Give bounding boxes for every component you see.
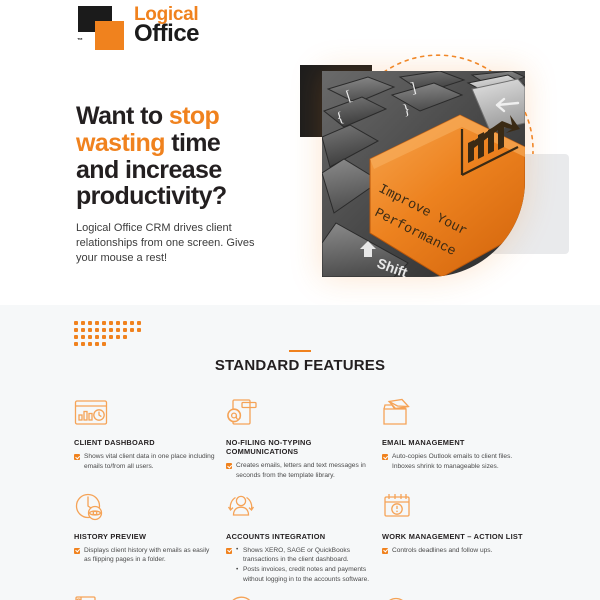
headline-seg-1: Want to (76, 102, 169, 130)
feature-body: Auto-copies Outlook emails to client fil… (382, 452, 526, 472)
feature-text: Shows vital client data in one place inc… (84, 452, 218, 472)
gear-settings-icon (226, 596, 374, 600)
logo-orange-square (95, 21, 124, 50)
feature-card-clock-square (382, 596, 534, 600)
feature-body: Controls deadlines and follow ups. (382, 546, 526, 556)
feature-title: ACCOUNTS INTEGRATION (226, 532, 374, 541)
hero-keyboard-image: [ { ] } " (322, 71, 525, 277)
folder-envelope-icon (382, 398, 526, 432)
check-bullet-icon (74, 548, 80, 554)
calendar-alert-icon (382, 492, 526, 526)
feature-title: HISTORY PREVIEW (74, 532, 218, 541)
feature-text: Auto-copies Outlook emails to client fil… (392, 452, 526, 472)
list-item: Posts invoices, credit notes and payment… (236, 565, 374, 585)
feature-text: Controls deadlines and follow ups. (392, 546, 492, 556)
person-sync-icon (226, 492, 374, 526)
feature-card-work-management: WORK MANAGEMENT – ACTION LIST Controls d… (382, 492, 534, 585)
dashboard-chart-clock-icon (74, 398, 218, 432)
hero-subcopy: Logical Office CRM drives client relatio… (76, 221, 261, 266)
feature-card-history-preview: HISTORY PREVIEW Displays client history … (74, 492, 226, 585)
features-grid: CLIENT DASHBOARD Shows vital client data… (74, 398, 534, 600)
feature-card-document-briefcase (74, 596, 226, 600)
feature-text: Shows XERO, SAGE or QuickBooks transacti… (236, 546, 374, 585)
document-at-sign-icon (226, 398, 374, 432)
hero-artwork: [ { ] } " (296, 32, 566, 294)
logo-mark-icon: ™ (74, 4, 132, 52)
feature-title: EMAIL MANAGEMENT (382, 438, 526, 447)
feature-card-client-dashboard: CLIENT DASHBOARD Shows vital client data… (74, 398, 226, 481)
clock-eye-icon (74, 492, 218, 526)
feature-body: Shows vital client data in one place inc… (74, 452, 218, 472)
feature-card-no-filing-communications: NO-FILING NO-TYPING COMMUNICATIONS Creat… (226, 398, 382, 481)
feature-bullet-list: Shows XERO, SAGE or QuickBooks transacti… (236, 546, 374, 585)
hero-copy: Want to stop wasting time and increase p… (76, 103, 261, 266)
feature-title: NO-FILING NO-TYPING COMMUNICATIONS (226, 438, 374, 456)
hero-section: ™ Logical Office Want to stop wasting ti… (0, 0, 600, 305)
headline-seg-4: wasting (76, 129, 165, 157)
check-bullet-icon (382, 548, 388, 554)
headline-seg-2: stop (169, 102, 219, 130)
check-bullet-icon (226, 548, 232, 554)
page-title: Want to stop wasting time and increase p… (76, 103, 261, 210)
feature-text: Displays client history with emails as e… (84, 546, 218, 566)
feature-body: Displays client history with emails as e… (74, 546, 218, 566)
check-bullet-icon (74, 454, 80, 460)
clock-square-icon (382, 596, 526, 600)
check-bullet-icon (226, 463, 232, 469)
feature-title: CLIENT DASHBOARD (74, 438, 218, 447)
feature-text: Creates emails, letters and text message… (236, 461, 374, 481)
feature-card-settings (226, 596, 382, 600)
logo-word-office: Office (134, 23, 199, 45)
document-briefcase-icon (74, 596, 218, 600)
logo-trademark: ™ (77, 38, 83, 44)
section-title: STANDARD FEATURES (0, 357, 600, 374)
logo-wordmark: Logical Office (134, 4, 199, 46)
list-item: Shows XERO, SAGE or QuickBooks transacti… (236, 546, 374, 566)
brand-logo[interactable]: ™ Logical Office (74, 4, 199, 52)
section-header: STANDARD FEATURES (0, 350, 600, 374)
feature-title: WORK MANAGEMENT – ACTION LIST (382, 532, 526, 541)
section-rule (289, 350, 311, 352)
landing-page: ™ Logical Office Want to stop wasting ti… (0, 0, 600, 600)
feature-body: Shows XERO, SAGE or QuickBooks transacti… (226, 546, 374, 585)
feature-body: Creates emails, letters and text message… (226, 461, 374, 481)
feature-card-email-management: EMAIL MANAGEMENT Auto-copies Outlook ema… (382, 398, 534, 481)
feature-card-accounts-integration: ACCOUNTS INTEGRATION Shows XERO, SAGE or… (226, 492, 382, 585)
features-section: STANDARD FEATURES CLIENT DASHBOARD (0, 305, 600, 600)
dot-grid-decoration (74, 321, 144, 349)
check-bullet-icon (382, 454, 388, 460)
keyboard-illustration: [ { ] } " (322, 71, 525, 277)
